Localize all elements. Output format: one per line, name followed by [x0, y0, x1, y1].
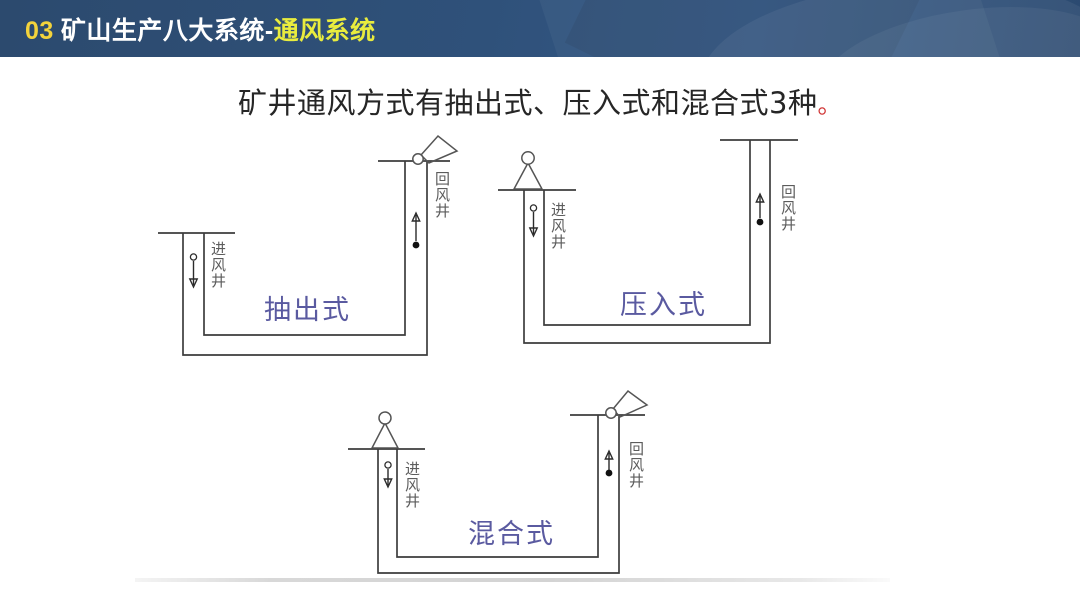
header-decoration-shape-dark	[565, 0, 935, 57]
intake-shaft-label: 进风井	[209, 241, 227, 289]
header-title-accent: 通风系统	[274, 17, 376, 45]
ventilation-diagram-stage: 进风井 回风井 抽出式	[0, 128, 1080, 568]
intake-flow-arrow-down	[190, 254, 197, 287]
mode-label-exhaust: 抽出式	[264, 295, 351, 326]
return-flow-arrow-up	[756, 194, 763, 225]
blower-fan-icon	[372, 412, 398, 448]
page-title: 矿井通风方式有抽出式、压入式和混合式3种。	[0, 80, 1080, 122]
header-decoration-shape-b	[700, 0, 1080, 57]
header-title-main: 矿山生产八大系统-	[61, 17, 274, 45]
page-title-text: 矿井通风方式有抽出式、压入式和混合式3种	[238, 86, 817, 120]
intake-shaft-label: 进风井	[403, 461, 421, 509]
return-shaft-label: 回风井	[627, 441, 645, 489]
blower-fan-icon	[514, 152, 542, 189]
mode-label-mixed: 混合式	[468, 519, 555, 550]
mode-label-forced: 压入式	[620, 290, 707, 321]
return-shaft-label: 回风井	[779, 184, 797, 232]
intake-flow-arrow-down	[384, 462, 391, 487]
diagram-forced-ventilation: 进风井 回风井 压入式	[498, 128, 828, 378]
diagram-mixed-ventilation: 进风井 回风井 混合式	[330, 393, 670, 583]
bottom-divider	[135, 578, 890, 582]
header-title: 03矿山生产八大系统-通风系统	[25, 11, 376, 47]
return-flow-arrow-up	[605, 451, 612, 476]
page-title-period: 。	[817, 91, 842, 119]
header-decoration-shape-c	[813, 0, 1080, 57]
exhaust-fan-icon	[413, 136, 457, 164]
intake-shaft-label: 进风井	[549, 202, 567, 250]
return-flow-arrow-up	[412, 213, 419, 248]
return-shaft-label: 回风井	[433, 171, 451, 219]
slide-header-bar: 03矿山生产八大系统-通风系统	[0, 0, 1080, 57]
header-decoration-shape-a	[539, 0, 1000, 57]
diagram-exhaust-ventilation: 进风井 回风井 抽出式	[150, 133, 470, 393]
intake-flow-arrow-down	[530, 205, 537, 236]
header-section-number: 03	[25, 17, 54, 45]
exhaust-fan-icon	[606, 391, 647, 418]
